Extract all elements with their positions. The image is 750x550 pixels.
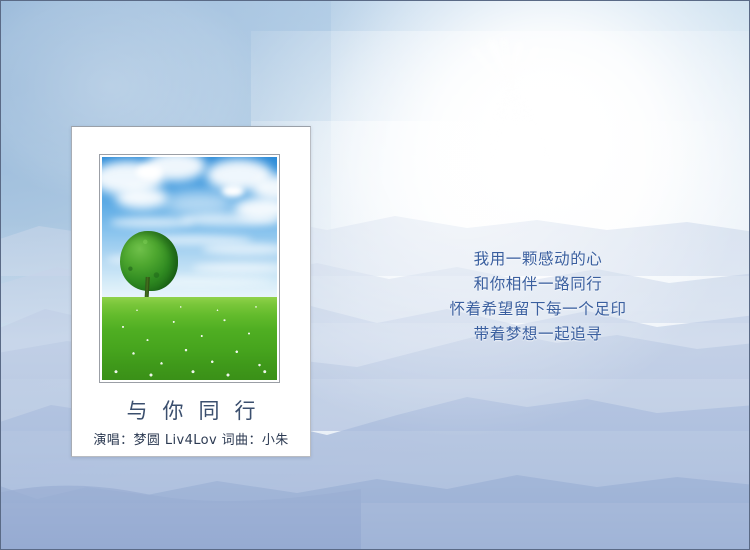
photo-frame <box>99 154 280 383</box>
photo-meadow <box>102 297 277 380</box>
card-title: 与你同行 <box>72 395 310 425</box>
song-card: 与你同行 演唱：梦圆 Liv4Lov 词曲：小朱 <box>71 126 311 457</box>
lyrics-line-4: 带着梦想一起追寻 <box>393 322 683 347</box>
card-credits: 演唱：梦圆 Liv4Lov 词曲：小朱 <box>72 429 310 448</box>
lyrics-block: 我用一颗感动的心 和你相伴一路同行 怀着希望留下每一个足印 带着梦想一起追寻 <box>393 247 683 347</box>
lyrics-line-3: 怀着希望留下每一个足印 <box>393 297 683 322</box>
lyrics-line-2: 和你相伴一路同行 <box>393 272 683 297</box>
photo-tree-meadow <box>102 157 277 380</box>
tree <box>120 231 178 305</box>
greeting-card-scene: 我用一颗感动的心 和你相伴一路同行 怀着希望留下每一个足印 带着梦想一起追寻 <box>0 0 750 550</box>
lyrics-line-1: 我用一颗感动的心 <box>393 247 683 272</box>
